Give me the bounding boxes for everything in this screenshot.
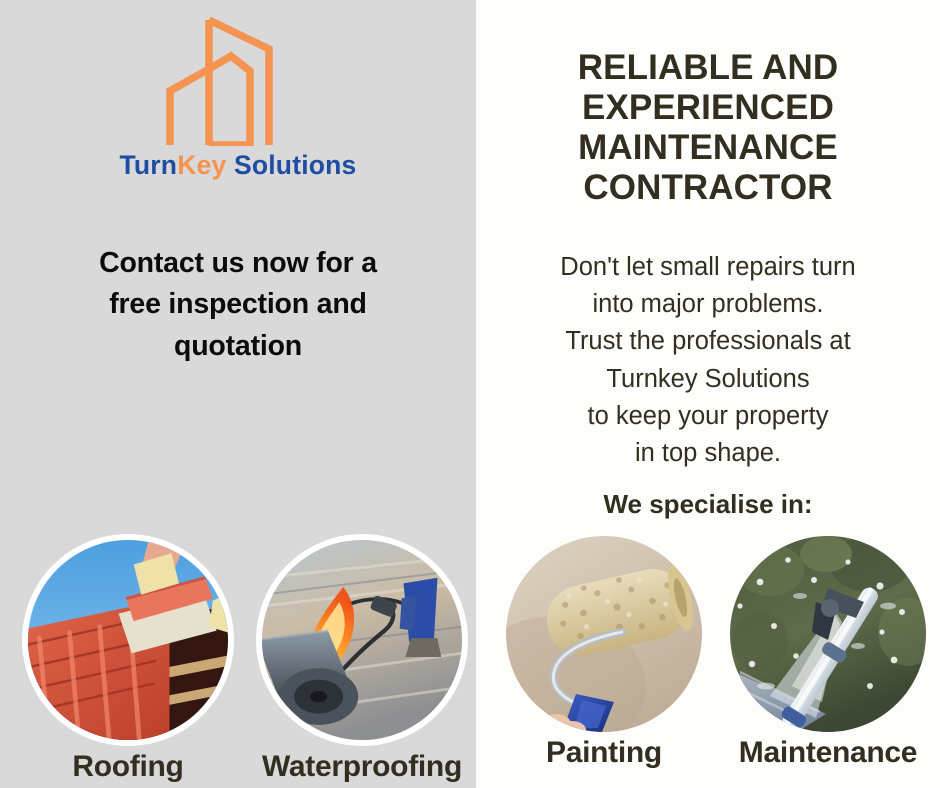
service-photo-waterproofing [256,534,468,746]
services-row: Roofing [0,0,940,788]
service-item-painting[interactable]: Painting [506,536,702,732]
service-label-waterproofing: Waterproofing [256,752,468,782]
torch-on-membrane-photo [262,540,462,740]
service-item-waterproofing[interactable]: Waterproofing [256,534,468,746]
service-label-maintenance: Maintenance [730,738,926,768]
flyer-canvas: TurnKey Solutions Contact us now for a f… [0,0,940,788]
pressure-washer-photo [730,536,926,732]
service-item-roofing[interactable]: Roofing [22,534,234,746]
service-label-roofing: Roofing [22,752,234,782]
service-photo-maintenance [730,536,926,732]
service-photo-painting [506,536,702,732]
service-item-maintenance[interactable]: Maintenance [730,536,926,732]
roof-tiles-repair-photo [28,540,228,740]
paint-roller-photo [506,536,702,732]
service-label-painting: Painting [506,738,702,768]
service-photo-roofing [22,534,234,746]
